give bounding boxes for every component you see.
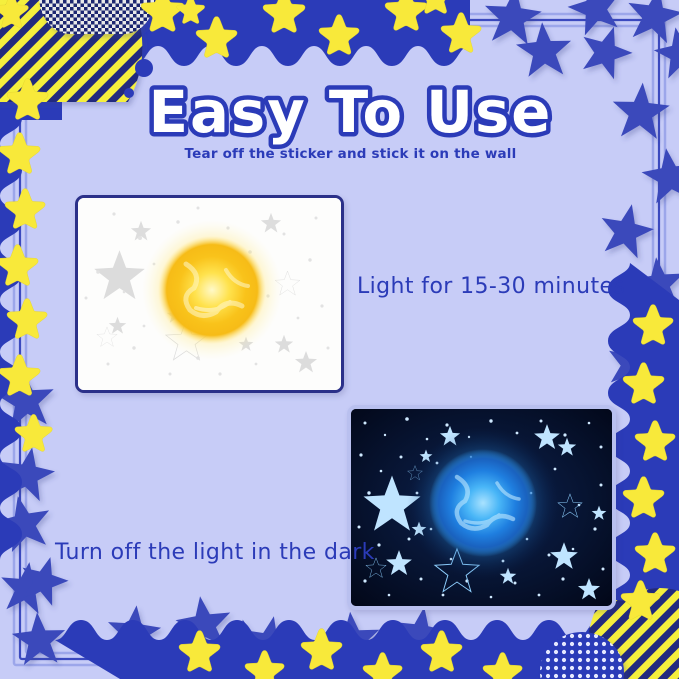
caption-dark-step: Turn off the light in the dark <box>55 540 375 565</box>
poster-content: Easy To Use Tear off the sticker and sti… <box>92 52 609 619</box>
bottom-scallop-band <box>55 620 679 679</box>
easy-to-use-poster: Easy To Use Tear off the sticker and sti… <box>0 0 679 679</box>
page-subtitle: Tear off the sticker and stick it on the… <box>92 146 609 162</box>
photo-panel-dark <box>347 405 616 610</box>
halftone-dot-circle-bottom <box>540 632 624 679</box>
halftone-circle-top <box>39 0 155 34</box>
caption-light-step: Light for 15-30 minutes <box>357 274 625 299</box>
page-title: Easy To Use <box>92 74 609 144</box>
page-title-text: Easy To Use <box>149 78 553 146</box>
right-scallop-band <box>608 263 679 679</box>
lit-room-illustration <box>78 198 341 390</box>
dark-room-illustration <box>351 409 612 606</box>
left-scallop-band <box>0 0 62 560</box>
photo-panel-lit <box>75 195 344 393</box>
